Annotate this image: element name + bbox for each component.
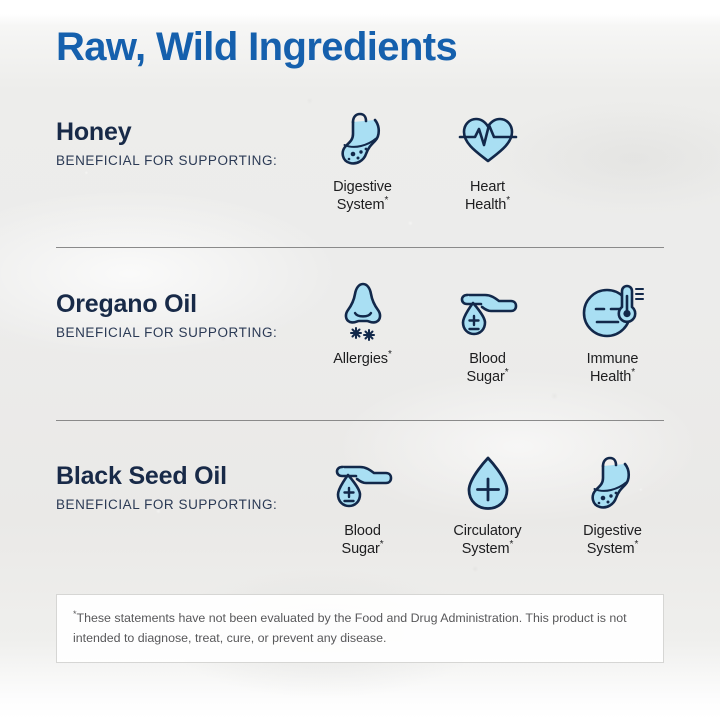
benefit-footnote-marker: * [388, 349, 392, 360]
section-subtitle: BENEFICIAL FOR SUPPORTING: [56, 325, 321, 341]
benefit-label: Digestive System* [333, 178, 392, 215]
benefit-list-black-seed-oil: Blood Sugar* Circulatory System* [300, 452, 700, 559]
ingredient-benefits-poster: Raw, Wild Ingredients Honey BENEFICIAL F… [0, 0, 720, 720]
benefit-label-line1: Allergies [333, 351, 388, 367]
blood-drop-plus-icon [460, 452, 516, 514]
benefit-item: Blood Sugar* [425, 280, 550, 387]
benefit-label-line1: Circulatory [453, 523, 521, 539]
benefit-item: Heart Health* [425, 108, 550, 215]
heart-pulse-icon [456, 108, 520, 170]
benefit-label-line1: Blood [469, 351, 506, 367]
benefit-label-line2: System [337, 197, 385, 213]
benefit-label-line2: Health [590, 369, 631, 385]
section-subtitle: BENEFICIAL FOR SUPPORTING: [56, 497, 321, 513]
section-black-seed-oil-header: Black Seed Oil BENEFICIAL FOR SUPPORTING… [56, 462, 321, 513]
disclaimer-text: *These statements have not been evaluate… [73, 608, 647, 648]
section-divider [56, 420, 664, 421]
benefit-label: Blood Sugar* [342, 522, 384, 559]
section-subtitle: BENEFICIAL FOR SUPPORTING: [56, 153, 321, 169]
hand-blood-drop-icon [330, 452, 396, 514]
benefit-label-line2: System [462, 541, 510, 557]
benefit-label-line1: Heart [470, 179, 505, 195]
benefit-item: Immune Health* [550, 280, 675, 387]
benefit-footnote-marker: * [505, 367, 509, 378]
benefit-label-line2: Sugar [467, 369, 505, 385]
section-title: Oregano Oil [56, 290, 321, 319]
benefit-footnote-marker: * [380, 539, 384, 550]
benefit-label: Heart Health* [465, 178, 510, 215]
disclaimer-box: *These statements have not been evaluate… [56, 594, 664, 663]
benefit-list-honey: Digestive System* Heart Health* [300, 108, 580, 215]
benefit-label-line1: Digestive [583, 523, 642, 539]
section-divider [56, 247, 664, 248]
benefit-label-line1: Blood [344, 523, 381, 539]
benefit-label-line2: Health [465, 197, 506, 213]
benefit-list-oregano-oil: Allergies* Blood Sugar* [300, 280, 700, 387]
benefit-item: Allergies* [300, 280, 425, 368]
benefit-label-line1: Immune [587, 351, 639, 367]
benefit-footnote-marker: * [634, 539, 638, 550]
page-title: Raw, Wild Ingredients [56, 25, 457, 69]
benefit-label-line1: Digestive [333, 179, 392, 195]
benefit-item: Blood Sugar* [300, 452, 425, 559]
benefit-footnote-marker: * [509, 539, 513, 550]
benefit-item: Digestive System* [300, 108, 425, 215]
section-title: Honey [56, 118, 321, 147]
benefit-label-line2: System [587, 541, 635, 557]
stomach-icon [335, 108, 391, 170]
sick-face-thermometer-icon [580, 280, 646, 342]
benefit-label: Digestive System* [583, 522, 642, 559]
nose-pollen-icon [335, 280, 391, 342]
benefit-label: Blood Sugar* [467, 350, 509, 387]
benefit-footnote-marker: * [506, 195, 510, 206]
benefit-label: Circulatory System* [453, 522, 521, 559]
benefit-label: Allergies* [333, 350, 392, 368]
benefit-footnote-marker: * [631, 367, 635, 378]
section-title: Black Seed Oil [56, 462, 321, 491]
section-honey-header: Honey BENEFICIAL FOR SUPPORTING: [56, 118, 321, 169]
benefit-footnote-marker: * [384, 195, 388, 206]
benefit-item: Circulatory System* [425, 452, 550, 559]
stomach-icon [585, 452, 641, 514]
section-oregano-oil-header: Oregano Oil BENEFICIAL FOR SUPPORTING: [56, 290, 321, 341]
benefit-label: Immune Health* [587, 350, 639, 387]
hand-blood-drop-icon [455, 280, 521, 342]
disclaimer-body: These statements have not been evaluated… [73, 611, 627, 645]
benefit-label-line2: Sugar [342, 541, 380, 557]
benefit-item: Digestive System* [550, 452, 675, 559]
